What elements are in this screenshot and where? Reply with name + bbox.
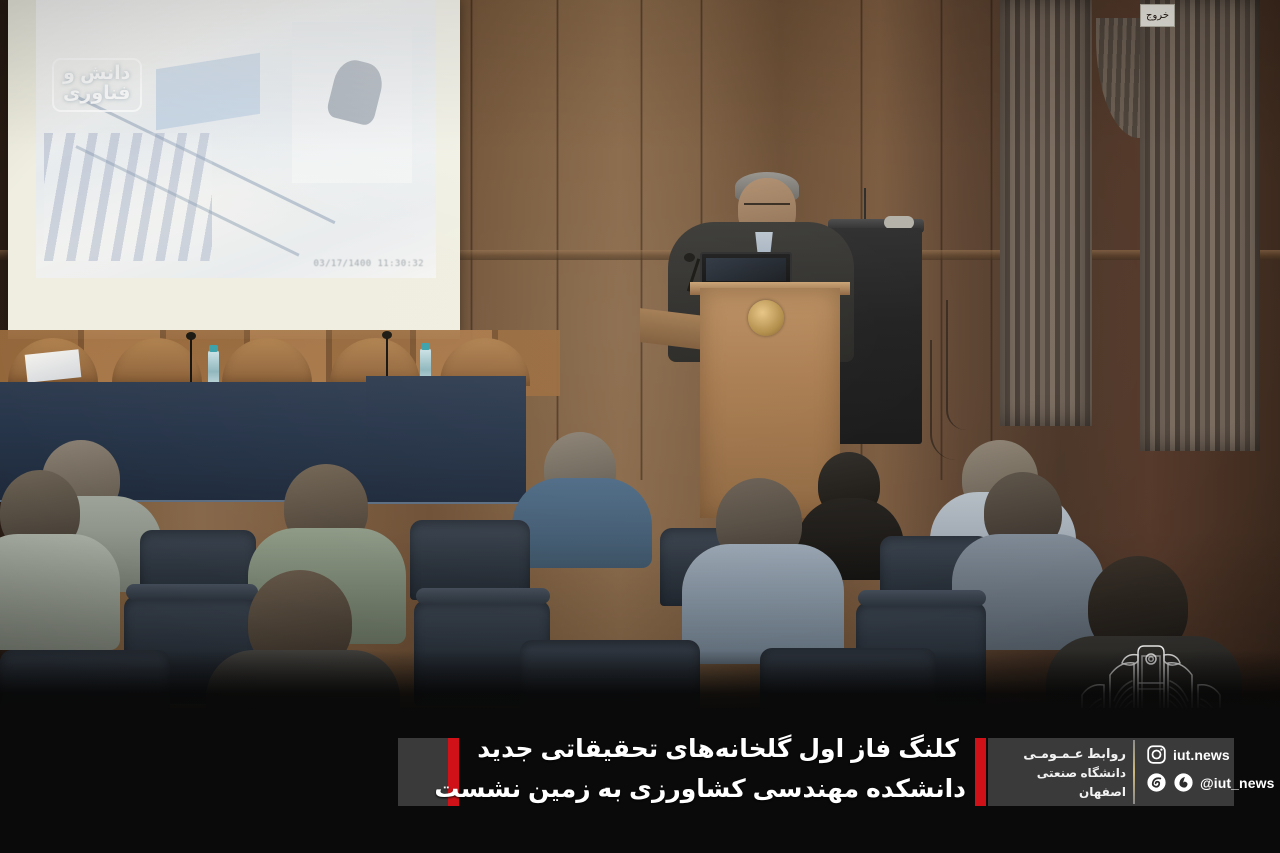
floor-cable xyxy=(946,300,966,430)
bale-icon[interactable] xyxy=(1173,772,1194,793)
head-table-front xyxy=(366,376,526,504)
university-emblem-icon xyxy=(748,300,784,336)
cctv-timestamp: 03/17/1400 11:30:32 xyxy=(313,259,424,269)
cctv-watermark-line2: فناوری xyxy=(63,83,131,104)
accent-bar-right xyxy=(975,738,986,806)
audience-torso xyxy=(0,534,120,650)
wall-seam xyxy=(640,0,643,480)
social-row-instagram[interactable]: iut.news xyxy=(1146,744,1274,765)
podium-microphone-head xyxy=(684,253,695,262)
projection-screen: دانش و فناوری 03/17/1400 11:30:32 xyxy=(8,0,460,336)
monitor-screen xyxy=(706,258,786,281)
table-microphone xyxy=(190,339,192,383)
papers-on-table xyxy=(25,349,82,382)
cctv-watermark-line1: دانش و xyxy=(63,63,130,84)
audience-torso xyxy=(682,544,844,664)
seat-armrest xyxy=(416,588,550,604)
photo-canvas: خروج دانش و فناوری 03/17/1400 11:30:32 xyxy=(0,0,1280,853)
instagram-icon[interactable] xyxy=(1146,744,1167,765)
bottle-cap xyxy=(421,343,430,350)
seat-armrest xyxy=(126,584,258,600)
speaker-glasses xyxy=(744,203,790,212)
social-row-messengers[interactable]: @iut_news xyxy=(1146,772,1274,793)
wall-seam xyxy=(556,0,559,480)
window-curtain-right xyxy=(1140,0,1260,451)
org-line-2: دانشگاه صنعتی اصفهان xyxy=(998,764,1126,802)
caption-banner: کلنگ فاز اول گلخانه‌های تحقیقاتی جدید دا… xyxy=(0,708,1280,853)
cctv-watermark: دانش و فناوری xyxy=(52,58,142,112)
org-line-1: روابط عـمـومـی xyxy=(998,744,1126,764)
wall-seam xyxy=(990,0,993,480)
public-relations-block: روابط عـمـومـی دانشگاه صنعتی اصفهان xyxy=(998,744,1126,802)
headline: کلنگ فاز اول گلخانه‌های تحقیقاتی جدید دا… xyxy=(470,730,966,809)
branding-divider xyxy=(1133,740,1135,804)
messenger-handle[interactable]: @iut_news xyxy=(1200,775,1274,791)
window-curtain-left xyxy=(1000,0,1092,426)
banner-fade xyxy=(0,650,1280,712)
headline-line-2: دانشکده مهندسی کشاورزی به زمین نشست xyxy=(470,770,966,810)
seat-armrest xyxy=(858,590,986,606)
water-bottle xyxy=(208,350,219,386)
headline-line-1: کلنگ فاز اول گلخانه‌های تحقیقاتی جدید xyxy=(470,730,966,770)
audience-torso xyxy=(512,478,652,568)
cctv-seating xyxy=(44,133,212,261)
bottle-cap xyxy=(209,345,218,352)
cctv-blue-panel xyxy=(156,53,260,131)
instagram-handle[interactable]: iut.news xyxy=(1173,747,1230,763)
exit-sign: خروج xyxy=(1140,4,1175,27)
projected-cctv-image: دانش و فناوری 03/17/1400 11:30:32 xyxy=(36,0,436,278)
social-links: iut.news @iut_news xyxy=(1146,744,1274,793)
eitaa-icon[interactable] xyxy=(1146,772,1167,793)
